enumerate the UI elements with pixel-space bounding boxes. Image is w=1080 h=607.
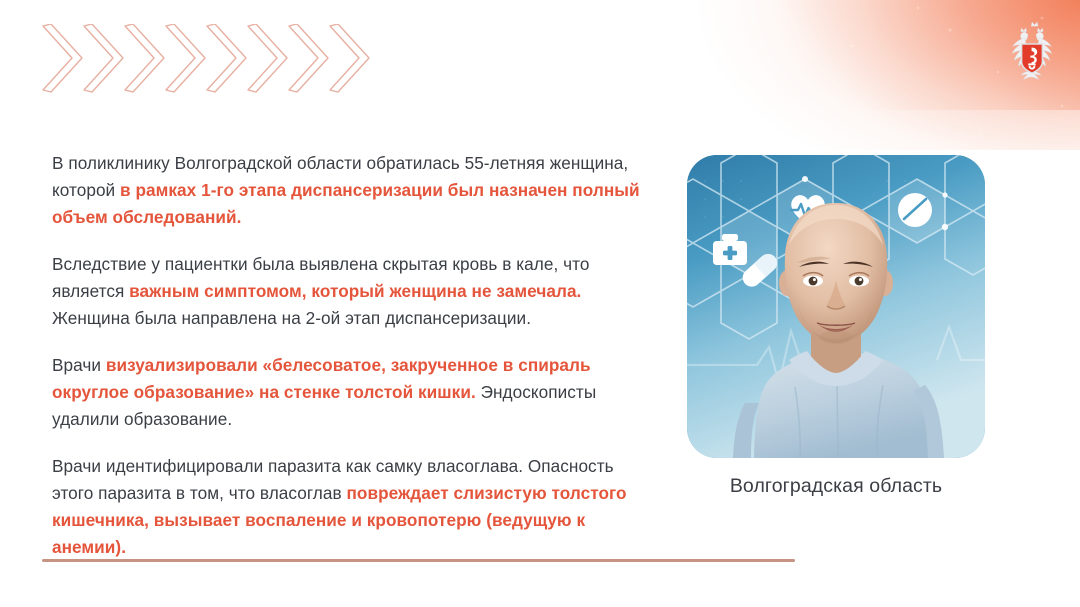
portrait-photo [687, 155, 985, 458]
photo-caption: Волгоградская область [687, 475, 985, 498]
chevron-right-icon [248, 24, 287, 92]
tablet-pill-icon [898, 193, 932, 227]
chevron-right-icon [43, 24, 82, 92]
bottom-divider [42, 559, 795, 562]
body-paragraph: Врачи визуализировали «белесоватое, закр… [52, 352, 652, 433]
chevron-right-icon [84, 24, 123, 92]
photo-card [687, 155, 985, 458]
chevron-decoration-band [42, 24, 372, 94]
highlighted-text-run: важным симптомом, который женщина не зам… [129, 281, 581, 301]
body-paragraph: Врачи идентифицировали паразита как самк… [52, 453, 652, 561]
chevron-right-icon [330, 24, 369, 92]
plain-text-run: Врачи [52, 355, 106, 375]
highlighted-text-run: в рамках 1-го этапа диспансеризации был … [52, 180, 640, 227]
plain-text-run: Женщина была направлена на 2-ой этап дис… [52, 308, 531, 328]
body-copy: В поликлинику Волгоградской области обра… [52, 150, 652, 561]
russian-ministry-of-health-emblem-icon [1004, 19, 1060, 87]
chevron-right-icon [125, 24, 164, 92]
body-paragraph: Вследствие у пациентки была выявлена скр… [52, 251, 652, 332]
chevron-right-icon [166, 24, 205, 92]
slide-canvas: В поликлинику Волгоградской области обра… [0, 0, 1080, 607]
chevron-right-icon [289, 24, 328, 92]
chevron-right-icon [207, 24, 246, 92]
body-paragraph: В поликлинику Волгоградской области обра… [52, 150, 652, 231]
